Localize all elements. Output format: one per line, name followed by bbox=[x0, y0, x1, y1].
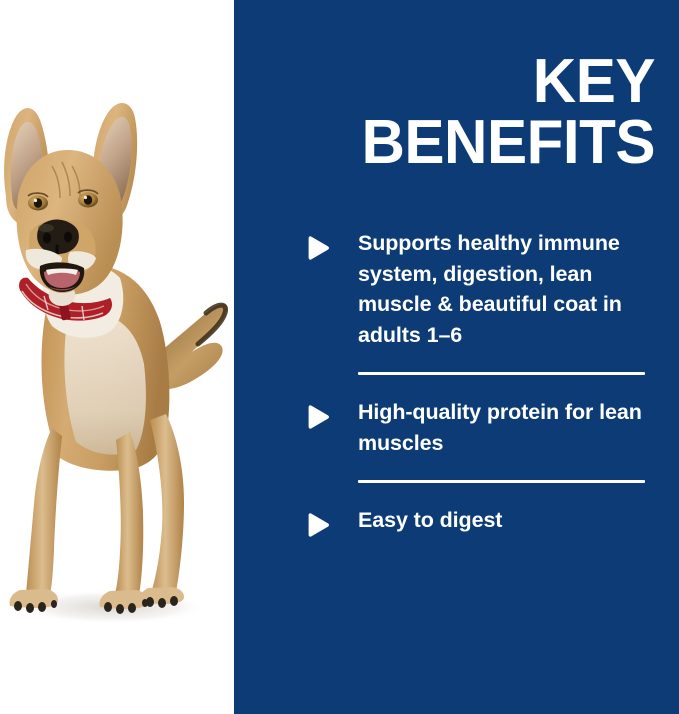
key-benefits-panel: KEY BENEFITS Supports healthy immune sys… bbox=[234, 0, 679, 714]
benefit-item-3: Easy to digest bbox=[234, 505, 679, 536]
play-triangle-icon bbox=[305, 513, 331, 537]
benefit-text-2: High-quality protein for lean muscles bbox=[358, 397, 648, 458]
key-benefits-page: KEY BENEFITS Supports healthy immune sys… bbox=[0, 0, 679, 714]
benefit-divider-1 bbox=[358, 372, 645, 375]
dog-photo bbox=[0, 0, 234, 714]
play-triangle-icon bbox=[305, 236, 331, 260]
benefit-text-3: Easy to digest bbox=[358, 505, 502, 536]
product-photo-panel bbox=[0, 0, 234, 714]
benefit-item-2: High-quality protein for lean muscles bbox=[234, 397, 679, 458]
benefit-text-1: Supports healthy immune system, digestio… bbox=[358, 228, 648, 350]
play-triangle-icon bbox=[305, 405, 331, 429]
benefit-list: Supports healthy immune system, digestio… bbox=[234, 228, 679, 536]
benefit-divider-2 bbox=[358, 480, 645, 483]
benefit-item-1: Supports healthy immune system, digestio… bbox=[234, 228, 679, 350]
page-title: KEY BENEFITS bbox=[266, 52, 655, 174]
